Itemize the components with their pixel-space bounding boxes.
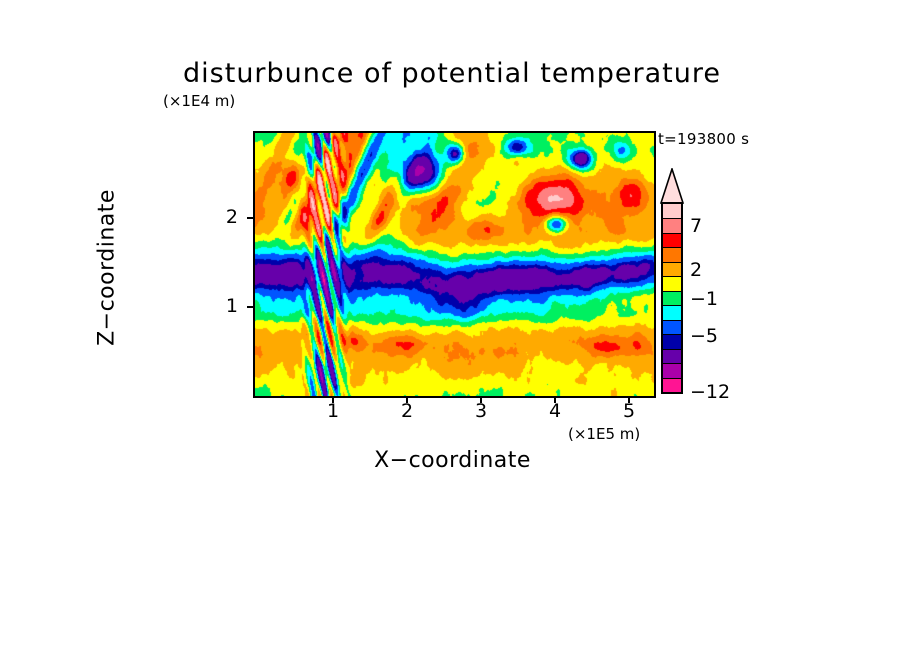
colorbar-band-9 bbox=[663, 334, 681, 348]
page-title: disturbunce of potential temperature bbox=[0, 58, 904, 89]
x-tick-label-4: 4 bbox=[540, 400, 570, 422]
colorbar-separator-12 bbox=[663, 378, 681, 379]
x-axis-title: X−coordinate bbox=[253, 448, 652, 473]
colorbar-label-7: 7 bbox=[690, 215, 702, 237]
colorbar-arrow-tip-icon bbox=[659, 168, 685, 204]
x-tick-label-2: 2 bbox=[392, 400, 422, 422]
x-axis-unit-label: (×1E5 m) bbox=[568, 425, 640, 443]
colorbar-label-minus12: −12 bbox=[690, 381, 730, 403]
colorbar-separator-4 bbox=[663, 262, 681, 263]
colorbar-separator-10 bbox=[663, 349, 681, 350]
colorbar-band-11 bbox=[663, 363, 681, 377]
figure-canvas: disturbunce of potential temperature (×1… bbox=[0, 0, 904, 654]
contour-field-canvas bbox=[255, 133, 654, 396]
colorbar-band-8 bbox=[663, 320, 681, 334]
contour-plot-area bbox=[253, 131, 656, 398]
y-axis-unit-label: (×1E4 m) bbox=[163, 92, 235, 110]
colorbar-separator-6 bbox=[663, 291, 681, 292]
colorbar-separator-2 bbox=[663, 233, 681, 234]
colorbar-label-2: 2 bbox=[690, 259, 702, 281]
x-tick-label-5: 5 bbox=[614, 400, 644, 422]
colorbar-band-2 bbox=[663, 233, 681, 247]
y-tick-label-2: 2 bbox=[212, 206, 238, 228]
colorbar bbox=[659, 168, 685, 394]
colorbar-separator-8 bbox=[663, 320, 681, 321]
colorbar-band-0 bbox=[663, 204, 681, 218]
colorbar-separator-5 bbox=[663, 276, 681, 277]
colorbar-separator-9 bbox=[663, 334, 681, 335]
y-tick-1 bbox=[247, 306, 254, 308]
colorbar-bands bbox=[661, 202, 683, 394]
colorbar-separator-1 bbox=[663, 218, 681, 219]
colorbar-band-4 bbox=[663, 262, 681, 276]
colorbar-label-minus1: −1 bbox=[690, 288, 718, 310]
colorbar-band-7 bbox=[663, 305, 681, 319]
timestamp-annotation: t=193800 s bbox=[658, 130, 749, 148]
y-axis-title: Z−coordinate bbox=[95, 148, 120, 388]
colorbar-band-1 bbox=[663, 218, 681, 232]
y-tick-label-1: 1 bbox=[212, 295, 238, 317]
colorbar-label-minus5: −5 bbox=[690, 325, 718, 347]
colorbar-band-6 bbox=[663, 291, 681, 305]
colorbar-separator-7 bbox=[663, 305, 681, 306]
colorbar-band-3 bbox=[663, 247, 681, 261]
colorbar-band-5 bbox=[663, 276, 681, 290]
y-tick-2 bbox=[247, 217, 254, 219]
colorbar-band-10 bbox=[663, 349, 681, 363]
x-tick-label-1: 1 bbox=[318, 400, 348, 422]
x-tick-label-3: 3 bbox=[466, 400, 496, 422]
colorbar-separator-3 bbox=[663, 247, 681, 248]
colorbar-band-12 bbox=[663, 378, 681, 392]
colorbar-separator-11 bbox=[663, 363, 681, 364]
